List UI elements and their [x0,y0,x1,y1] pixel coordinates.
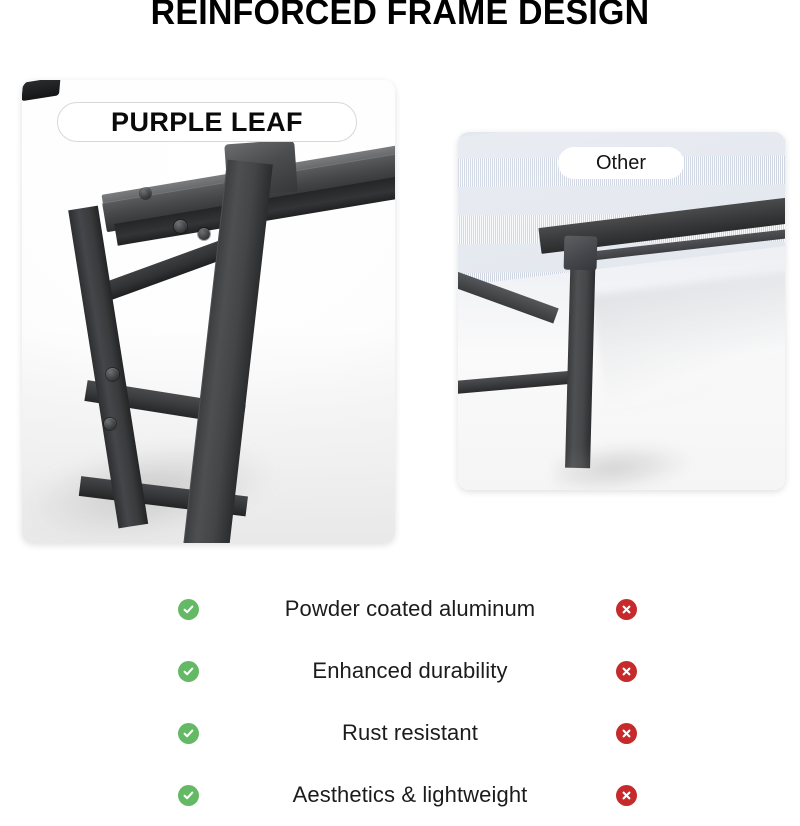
brand-badge-other: Other [558,147,684,179]
frame-bolt-icon [104,418,116,430]
cross-circle-icon [616,723,637,744]
frame-bolt-icon [174,220,187,233]
check-circle-icon [178,785,199,806]
purple-leaf-panel [22,80,395,543]
other-photo-soft-shadow [591,270,785,415]
other-brand-product-photo [458,132,785,490]
page-title: REINFORCED FRAME DESIGN [12,0,788,33]
cross-circle-icon [616,661,637,682]
other-brand-panel [458,132,785,490]
feature-label: Aesthetics & lightweight [210,782,610,808]
check-circle-icon [178,661,199,682]
other-table-leg-bracket [564,236,598,271]
feature-row: Enhanced durability [0,640,800,702]
frame-bolt-icon [140,188,151,199]
brand-badge-label: Other [596,152,646,175]
feature-label: Rust resistant [210,720,610,746]
feature-comparison-list: Powder coated aluminum Enhanced durabili… [0,578,800,826]
frame-bolt-icon [198,228,210,240]
other-table-leg [565,242,596,469]
brand-badge-label: PURPLE LEAF [111,107,303,138]
frame-bolt-icon [106,368,119,381]
other-table-stretcher-rail [458,370,581,395]
cross-circle-icon [616,785,637,806]
feature-label: Enhanced durability [210,658,610,684]
feature-row: Powder coated aluminum [0,578,800,640]
cross-circle-icon [616,599,637,620]
check-circle-icon [178,723,199,744]
frame-left-foot [22,80,61,101]
brand-badge-purple-leaf: PURPLE LEAF [57,102,357,142]
purple-leaf-product-photo [22,80,395,543]
feature-row: Aesthetics & lightweight [0,764,800,826]
feature-row: Rust resistant [0,702,800,764]
check-circle-icon [178,599,199,620]
feature-label: Powder coated aluminum [210,596,610,622]
